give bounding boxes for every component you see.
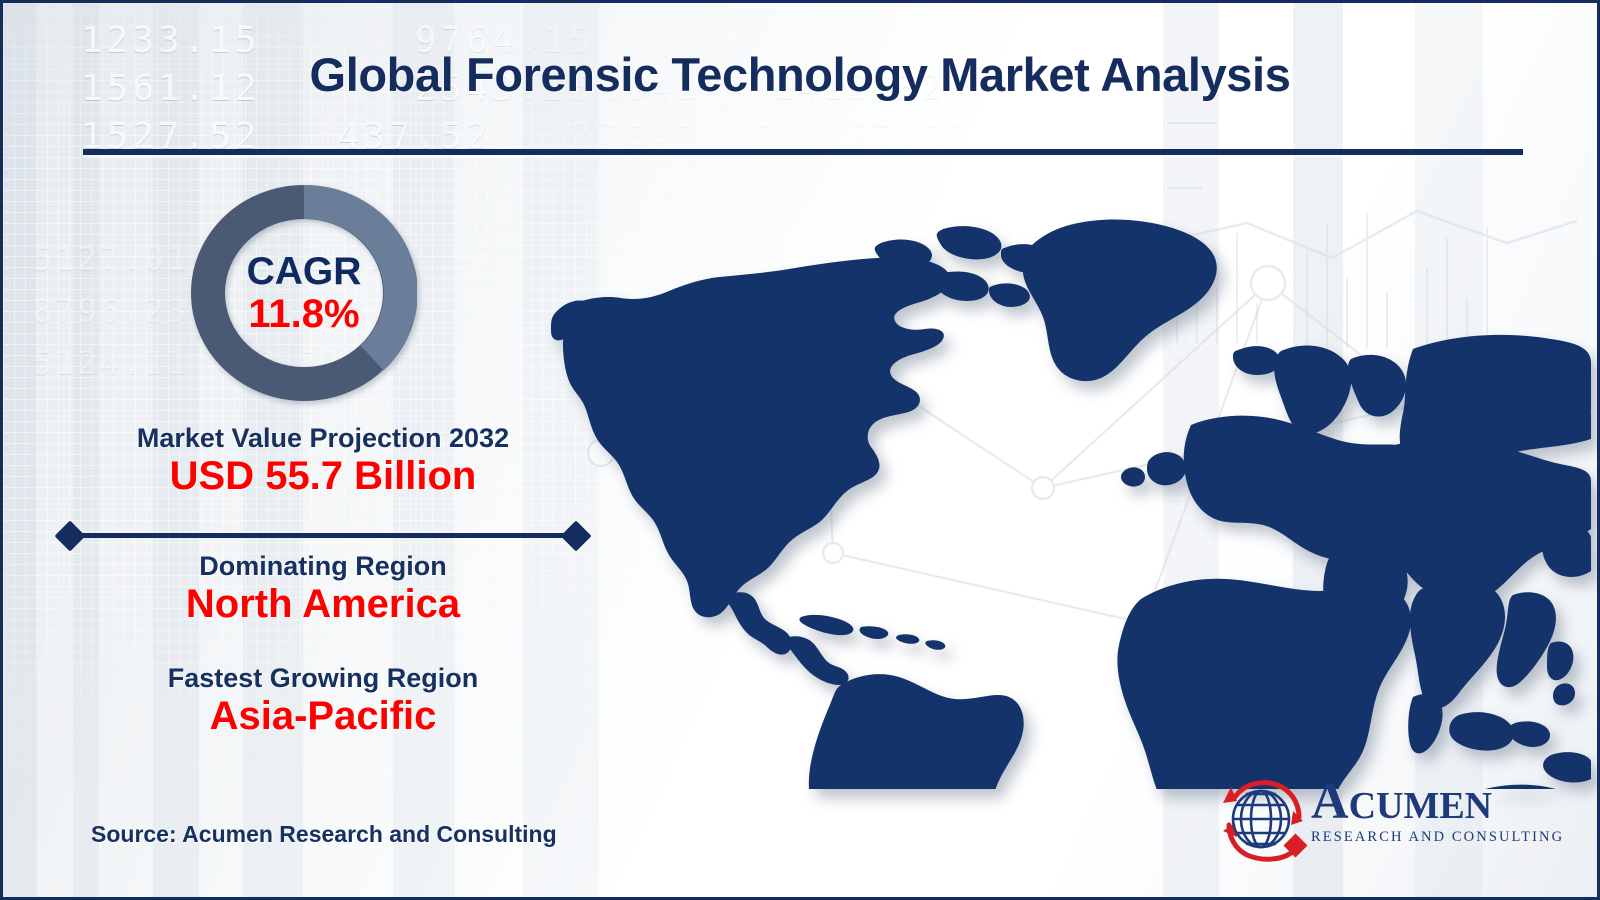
acumen-logo-text: ACUMEN RESEARCH AND CONSULTING bbox=[1311, 777, 1557, 846]
stat-market-value-value: USD 55.7 Billion bbox=[3, 454, 643, 499]
acumen-logo: ACUMEN RESEARCH AND CONSULTING bbox=[1215, 771, 1555, 869]
world-map-graphic bbox=[551, 199, 1591, 789]
acumen-wordmark: ACUMEN bbox=[1311, 777, 1557, 828]
acumen-rest: CUMEN bbox=[1349, 785, 1493, 827]
stat-dominating-region-label: Dominating Region bbox=[3, 551, 643, 582]
title-divider-rule bbox=[83, 149, 1523, 155]
world-map-svg bbox=[551, 199, 1591, 789]
cagr-label: CAGR bbox=[247, 252, 362, 291]
cagr-value: 11.8% bbox=[248, 293, 359, 335]
stat-dominating-region: Dominating Region North America bbox=[3, 551, 643, 627]
stat-market-value-label: Market Value Projection 2032 bbox=[3, 423, 643, 454]
stat-fastest-growing-region-label: Fastest Growing Region bbox=[3, 663, 643, 694]
section-divider bbox=[59, 525, 587, 547]
page-title: Global Forensic Technology Market Analys… bbox=[3, 47, 1597, 102]
acumen-initial: A bbox=[1311, 773, 1349, 830]
globe-logo-icon bbox=[1215, 775, 1311, 863]
acumen-tagline: RESEARCH AND CONSULTING bbox=[1311, 829, 1557, 846]
stat-market-value: Market Value Projection 2032 USD 55.7 Bi… bbox=[3, 423, 643, 499]
source-attribution: Source: Acumen Research and Consulting bbox=[91, 821, 557, 848]
stat-dominating-region-value: North America bbox=[3, 582, 643, 627]
stat-fastest-growing-region: Fastest Growing Region Asia-Pacific bbox=[3, 663, 643, 739]
cagr-donut-chart: CAGR 11.8% bbox=[191, 185, 417, 401]
stat-fastest-growing-region-value: Asia-Pacific bbox=[3, 694, 643, 739]
donut-center-text: CAGR 11.8% bbox=[191, 185, 417, 401]
infographic-canvas: 1233.15 9764.15 1561.12 2543.15 1527.52 … bbox=[0, 0, 1600, 900]
divider-bar bbox=[71, 533, 575, 538]
